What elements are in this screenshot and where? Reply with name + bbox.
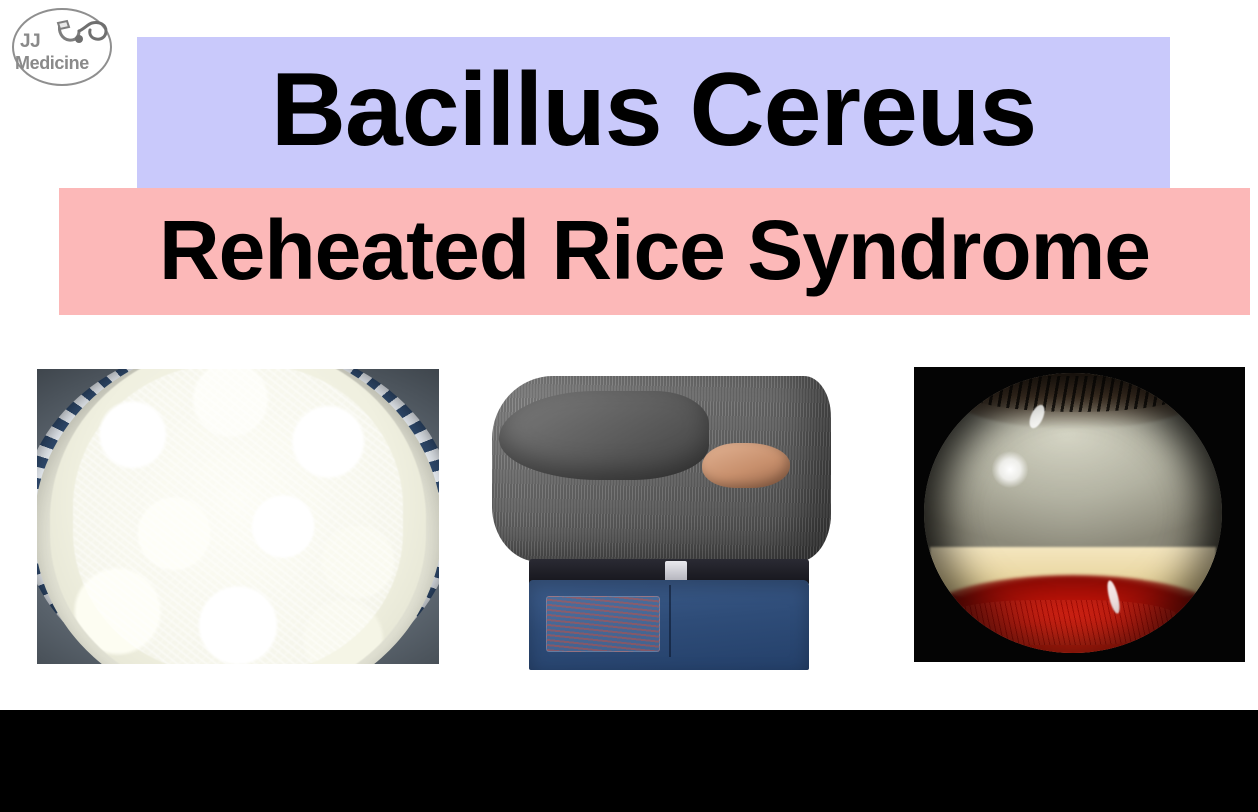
rice-grain-texture (73, 366, 403, 667)
jeans-pocket-label (546, 596, 660, 652)
rice-mound (50, 366, 425, 667)
photo-bowl-of-white-rice (34, 366, 442, 667)
bowl-rim (34, 366, 442, 667)
slide-canvas: JJ Medicine Bacillus Cereus Reheated Ric… (0, 0, 1258, 812)
photo-eye-with-hypopyon (911, 364, 1248, 665)
vignette-overlay (924, 373, 1222, 653)
jeans-fly-seam (669, 585, 671, 657)
person-hand (702, 443, 790, 488)
person-arm (499, 391, 709, 480)
bowl-interior (34, 366, 442, 667)
slit-lamp-backdrop (914, 367, 1245, 662)
rice-photo-backdrop (37, 369, 439, 664)
eye-globe (924, 373, 1222, 653)
photo-person-holding-abdomen (470, 370, 838, 670)
title-banner-primary: Bacillus Cereus (137, 37, 1170, 188)
logo-wordmark: Medicine (15, 54, 89, 72)
bottom-black-bar (0, 710, 1258, 812)
stethoscope-icon (54, 18, 112, 58)
person-sweater-torso (492, 376, 831, 562)
person-jeans (529, 580, 809, 670)
page-title: Bacillus Cereus (271, 58, 1036, 162)
logo-initials: JJ (20, 32, 40, 51)
page-subtitle: Reheated Rice Syndrome (159, 208, 1150, 292)
jj-medicine-logo: JJ Medicine (8, 6, 116, 88)
title-banner-secondary: Reheated Rice Syndrome (59, 188, 1250, 315)
